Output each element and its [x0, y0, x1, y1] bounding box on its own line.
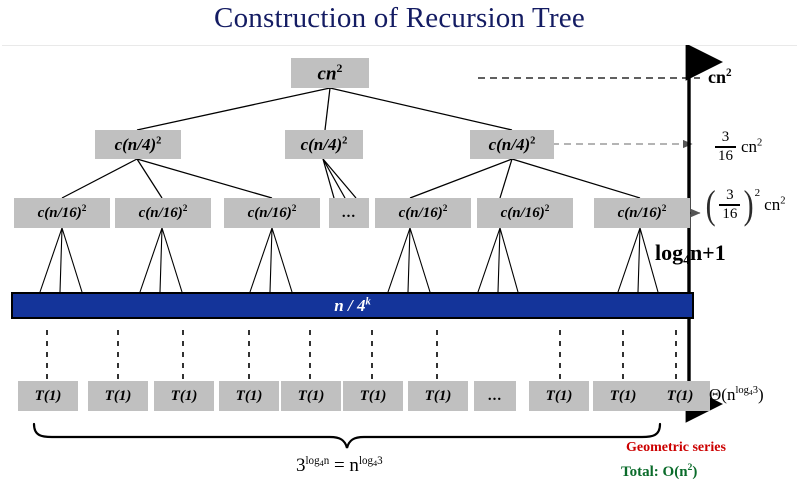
tree-node-level3-5-label: c(n/16)2	[501, 205, 550, 221]
tree-leaf-5-label: T(1)	[298, 389, 325, 404]
tree-node-level2-1[interactable]: c(n/4)2	[95, 130, 181, 159]
tree-node-level3-2[interactable]: c(n/16)2	[115, 198, 211, 228]
annotation-level2-tail: cn2	[764, 195, 785, 215]
tree-leaf-9-label: T(1)	[610, 389, 637, 404]
annotation-leaf-count-label: 3log4n = nlog43	[296, 455, 383, 476]
annotation-level1-cost-label: 3 16 cn2	[713, 130, 762, 164]
edges-root-to-level2	[137, 88, 512, 130]
tree-node-level3-3-label: c(n/16)2	[248, 205, 297, 221]
annotation-leaf-cost: Θ(nlog43)	[709, 385, 764, 405]
tree-node-level2-2-label: c(n/4)2	[301, 136, 348, 153]
left-paren: (	[706, 185, 716, 225]
tree-leaf-2-label: T(1)	[105, 389, 132, 404]
tree-node-level2-1-label: c(n/4)2	[115, 136, 162, 153]
right-paren: )	[744, 185, 754, 225]
annotation-tree-height-label: log4n+1	[655, 240, 726, 265]
annotation-level2-cost: ( 3 16 ) 2 cn2	[704, 185, 785, 225]
leaves-brace	[34, 424, 660, 448]
edges-level2c-to-level3	[410, 159, 640, 198]
tree-leaf-5[interactable]: T(1)	[281, 381, 341, 411]
tree-node-level3-4-label: c(n/16)2	[399, 205, 448, 221]
annotation-level1-cost: 3 16 cn2	[713, 128, 762, 164]
tree-leaf-3[interactable]: T(1)	[154, 381, 214, 411]
annotation-tree-height: log4n+1	[655, 240, 726, 266]
slide-canvas: Construction of Recursion Tree	[0, 0, 799, 490]
annotation-level0-cost: cn2	[708, 67, 732, 88]
annotation-geometric-series-label: Geometric series	[626, 440, 726, 455]
tree-node-level3-2-label: c(n/16)2	[139, 205, 188, 221]
tree-node-level3-6-label: c(n/16)2	[618, 205, 667, 221]
annotation-total: Total: O(n2)	[621, 462, 697, 481]
annotation-level2-cost-label: ( 3 16 ) 2 cn2	[704, 185, 785, 225]
tree-leaf-2[interactable]: T(1)	[88, 381, 148, 411]
tree-leaf-7[interactable]: T(1)	[408, 381, 468, 411]
tree-node-level2-2[interactable]: c(n/4)2	[285, 130, 363, 159]
tree-leaf-4-label: T(1)	[236, 389, 263, 404]
tree-leaf-1-label: T(1)	[35, 389, 62, 404]
tree-leaf-ellipsis: ...	[474, 381, 516, 411]
tree-leaf-8[interactable]: T(1)	[529, 381, 589, 411]
tree-node-level3-ellipsis: ...	[329, 198, 369, 228]
tree-leaf-10[interactable]: T(1)	[650, 381, 710, 411]
tree-leaf-6-label: T(1)	[360, 389, 387, 404]
tree-node-level3-3[interactable]: c(n/16)2	[224, 198, 320, 228]
edges-level2b-to-dots	[323, 159, 356, 198]
edges-level3-to-bar	[40, 228, 658, 292]
dashed-bar-to-leaves	[47, 330, 676, 381]
tree-leaf-6[interactable]: T(1)	[343, 381, 403, 411]
fraction-denominator: 16	[719, 207, 740, 222]
tree-node-root-label: cn2	[318, 63, 343, 83]
annotation-level1-tail: cn2	[741, 137, 762, 157]
fraction-numerator: 3	[723, 188, 737, 203]
tree-node-level2-3-label: c(n/4)2	[489, 136, 536, 153]
tree-node-level3-5[interactable]: c(n/16)2	[477, 198, 573, 228]
tree-leaf-ellipsis-label: ...	[488, 389, 502, 404]
annotation-level0-cost-label: cn2	[708, 67, 732, 87]
tree-node-level3-ellipsis-label: ...	[342, 206, 356, 221]
tree-leaf-10-label: T(1)	[667, 389, 694, 404]
fraction-3-16-squared: 3 16	[719, 188, 740, 222]
tree-node-level2-3[interactable]: c(n/4)2	[470, 130, 554, 159]
tree-node-level3-1[interactable]: c(n/16)2	[14, 198, 110, 228]
tree-node-root[interactable]: cn2	[291, 58, 369, 88]
fraction-numerator: 3	[719, 130, 733, 145]
annotation-geometric-series: Geometric series	[626, 440, 726, 456]
tree-leaf-8-label: T(1)	[546, 389, 573, 404]
edges-level2a-to-level3	[62, 159, 272, 198]
tree-leaf-1[interactable]: T(1)	[18, 381, 78, 411]
tree-leaf-3-label: T(1)	[171, 389, 198, 404]
tree-node-level3-6[interactable]: c(n/16)2	[594, 198, 690, 228]
fraction-3-16: 3 16	[715, 130, 736, 164]
fraction-denominator: 16	[715, 149, 736, 164]
annotation-total-label: Total: O(n2)	[621, 464, 697, 480]
annotation-leaf-cost-label: Θ(nlog43)	[709, 385, 764, 404]
annotation-level2-power: 2	[755, 187, 761, 199]
annotation-leaf-count: 3log4n = nlog43	[296, 455, 383, 477]
tree-leaf-4[interactable]: T(1)	[219, 381, 279, 411]
tree-node-level3-4[interactable]: c(n/16)2	[375, 198, 471, 228]
level-k-bar[interactable]: n / 4k	[11, 292, 694, 319]
tree-leaf-9[interactable]: T(1)	[593, 381, 653, 411]
level-k-bar-label: n / 4k	[334, 296, 370, 316]
tree-node-level3-1-label: c(n/16)2	[38, 205, 87, 221]
tree-leaf-7-label: T(1)	[425, 389, 452, 404]
